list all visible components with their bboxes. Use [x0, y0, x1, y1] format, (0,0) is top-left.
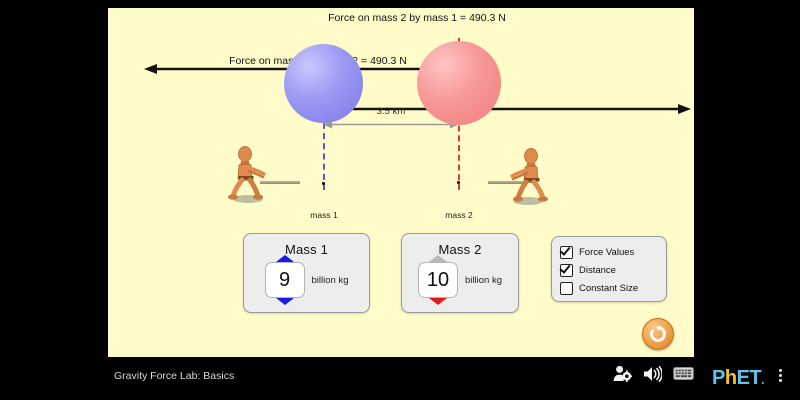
mass-2-spinner[interactable]: 10	[418, 262, 458, 298]
mass-2-control-panel: Mass 2 10 billion kg	[401, 233, 519, 313]
checkbox-force-values-label: Force Values	[579, 247, 634, 258]
kebab-dot	[779, 369, 782, 372]
keyboard-shortcuts-icon[interactable]	[673, 366, 694, 381]
rope-mass-1	[260, 181, 300, 184]
kebab-dot	[779, 379, 782, 382]
checkbox-constant-size[interactable]: Constant Size	[560, 279, 666, 297]
force-on-mass-2-label: Force on mass 2 by mass 1 = 490.3 N	[237, 12, 597, 24]
kebab-dot	[779, 374, 782, 377]
mass-1-units: billion kg	[312, 275, 349, 286]
mass-2-center-dot	[457, 181, 460, 184]
checkbox-distance[interactable]: Distance	[560, 261, 666, 279]
puller-figure-mass-1[interactable]	[226, 145, 266, 203]
mass-1-sphere-label: mass 1	[294, 210, 354, 220]
more-options-icon[interactable]	[779, 369, 782, 382]
visibility-checkbox-panel: Force Values Distance Constant Size	[551, 236, 667, 302]
mass-1-control-panel: Mass 1 9 billion kg	[243, 233, 370, 313]
reset-all-button[interactable]	[642, 318, 674, 350]
checkbox-distance-label: Distance	[579, 265, 616, 276]
sim-screen: Force on mass 2 by mass 1 = 490.3 N Forc…	[0, 0, 800, 400]
mass-2-decrement-arrow[interactable]	[429, 298, 447, 305]
mass-1-sphere[interactable]	[284, 44, 363, 123]
puller-figure-mass-2[interactable]	[510, 147, 550, 205]
mass-2-panel-title: Mass 2	[402, 242, 518, 257]
mass-2-increment-arrow	[429, 255, 447, 262]
preferences-icon[interactable]	[613, 365, 632, 382]
mass-1-center-dot	[322, 182, 325, 185]
phet-logo-p: P	[712, 367, 725, 389]
sim-title: Gravity Force Lab: Basics	[114, 370, 234, 382]
phet-logo[interactable]: PhET.	[712, 365, 764, 393]
phet-logo-h: h	[725, 367, 737, 389]
mass-2-units: billion kg	[465, 275, 502, 286]
checkbox-distance-box[interactable]	[560, 264, 573, 277]
mass-2-value: 10	[427, 270, 449, 290]
mass-1-spinner[interactable]: 9	[265, 262, 305, 298]
phet-logo-trademark: .	[761, 373, 764, 387]
mass-1-decrement-arrow[interactable]	[276, 298, 294, 305]
mass-1-panel-title: Mass 1	[244, 242, 369, 257]
checkbox-force-values[interactable]: Force Values	[560, 243, 666, 261]
mass-1-increment-arrow[interactable]	[276, 255, 294, 262]
distance-double-arrow	[323, 119, 459, 130]
checkbox-constant-size-label: Constant Size	[579, 283, 638, 294]
checkbox-constant-size-box[interactable]	[560, 282, 573, 295]
navigation-bar: Gravity Force Lab: Basics	[0, 357, 800, 400]
nav-icon-group	[613, 365, 694, 382]
simulation-canvas: Force on mass 2 by mass 1 = 490.3 N Forc…	[108, 8, 694, 357]
reset-all-icon	[649, 325, 667, 343]
mass-2-sphere[interactable]	[417, 41, 501, 125]
mass-2-sphere-label: mass 2	[429, 210, 489, 220]
phet-logo-et: ET	[737, 367, 762, 389]
checkbox-force-values-box[interactable]	[560, 246, 573, 259]
mass-1-value: 9	[279, 270, 290, 290]
sound-icon[interactable]	[643, 366, 662, 382]
